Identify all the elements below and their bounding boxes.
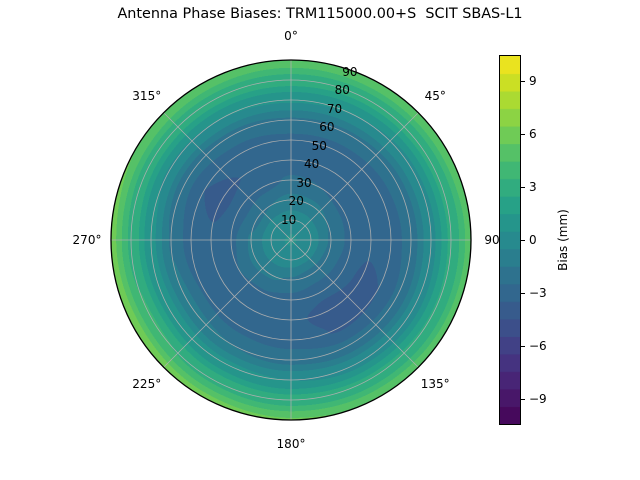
colorbar-tick-mark-4 bbox=[521, 187, 525, 188]
colorbar-gradient bbox=[499, 55, 521, 425]
polar-axes: 0°45°90°135°180°225°270°315° 10203040506… bbox=[109, 55, 473, 425]
radial-tick-label-60: 60 bbox=[319, 120, 334, 134]
page-title: Antenna Phase Biases: TRM115000.00+S SCI… bbox=[0, 6, 640, 22]
polar-contour-plot bbox=[109, 55, 473, 425]
figure-canvas: Antenna Phase Biases: TRM115000.00+S SCI… bbox=[0, 0, 640, 480]
azimuth-tick-label-315: 315° bbox=[132, 89, 161, 103]
radial-tick-label-40: 40 bbox=[304, 157, 319, 171]
colorbar-tick-mark-3 bbox=[521, 240, 525, 241]
colorbar-tick-mark-5 bbox=[521, 134, 525, 135]
colorbar-tick-label-6: 9 bbox=[529, 74, 537, 88]
radial-tick-label-30: 30 bbox=[296, 176, 311, 190]
radial-tick-label-80: 80 bbox=[335, 83, 350, 97]
azimuth-tick-label-45: 45° bbox=[425, 89, 446, 103]
colorbar-tick-mark-6 bbox=[521, 81, 525, 82]
colorbar: −9−6−30369 bbox=[499, 55, 521, 425]
radial-tick-label-10: 10 bbox=[281, 213, 296, 227]
azimuth-tick-label-0: 0° bbox=[284, 29, 298, 43]
colorbar-tick-label-5: 6 bbox=[529, 127, 537, 141]
radial-tick-label-20: 20 bbox=[289, 194, 304, 208]
radial-tick-label-70: 70 bbox=[327, 102, 342, 116]
colorbar-tick-mark-1 bbox=[521, 346, 525, 347]
colorbar-tick-mark-0 bbox=[521, 399, 525, 400]
radial-tick-label-50: 50 bbox=[312, 139, 327, 153]
colorbar-tick-mark-2 bbox=[521, 293, 525, 294]
colorbar-tick-label-0: −9 bbox=[529, 392, 547, 406]
colorbar-tick-label-4: 3 bbox=[529, 180, 537, 194]
colorbar-tick-label-2: −3 bbox=[529, 286, 547, 300]
azimuth-tick-label-225: 225° bbox=[132, 377, 161, 391]
colorbar-tick-label-3: 0 bbox=[529, 233, 537, 247]
colorbar-axis-label: Bias (mm) bbox=[556, 209, 570, 271]
azimuth-tick-label-135: 135° bbox=[421, 377, 450, 391]
radial-tick-label-90: 90 bbox=[342, 65, 357, 79]
azimuth-tick-label-180: 180° bbox=[277, 437, 306, 451]
colorbar-tick-label-1: −6 bbox=[529, 339, 547, 353]
azimuth-tick-label-270: 270° bbox=[73, 233, 102, 247]
